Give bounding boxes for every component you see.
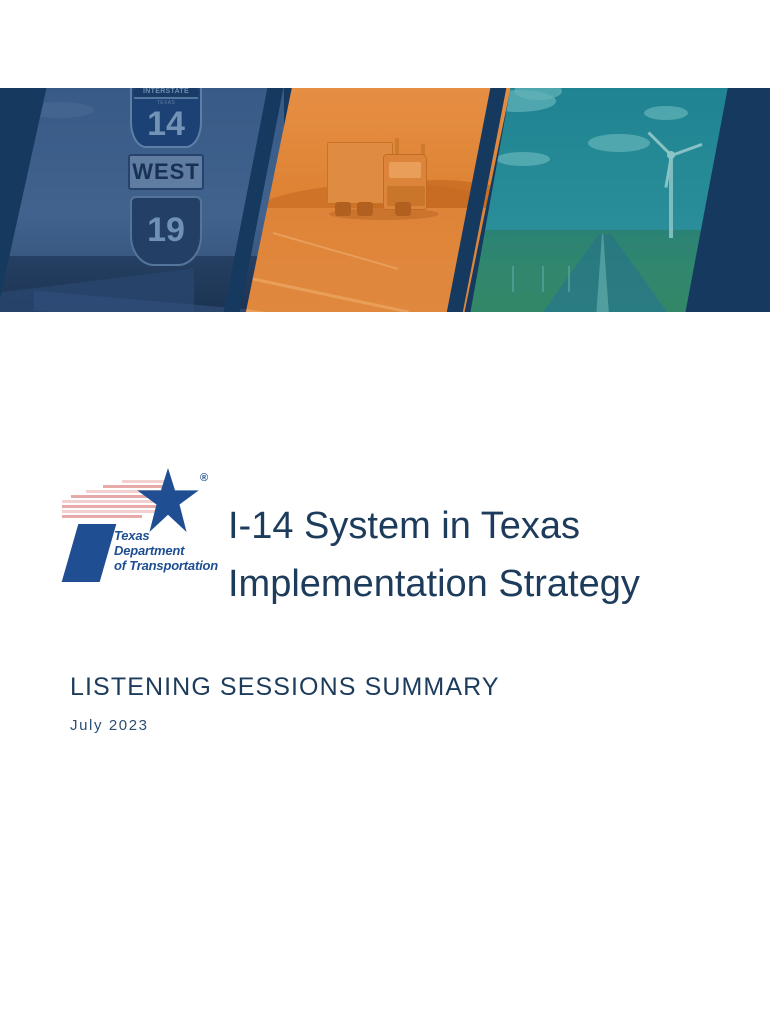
page-title-line2: Implementation Strategy [228, 555, 746, 613]
page-title: I-14 System in Texas Implementation Stra… [216, 491, 746, 613]
logo-wordmark-line3: of Transportation [114, 558, 218, 573]
logo-wordmark-line1: Texas [114, 528, 218, 543]
document-subtitle: LISTENING SESSIONS SUMMARY [70, 672, 710, 702]
logo-wordmark: Texas Department of Transportation [114, 528, 218, 573]
txdot-logo: ® Texas Department of Transportation [56, 466, 216, 588]
cover-banner: INTERSTATE TEXAS 14 WEST 19 [0, 88, 770, 312]
document-date: July 2023 [70, 716, 710, 736]
logo-wordmark-line2: Department [114, 543, 218, 558]
title-block: ® Texas Department of Transportation I-1… [56, 466, 746, 639]
page-title-line1: I-14 System in Texas [228, 497, 746, 555]
subtitle-block: LISTENING SESSIONS SUMMARY July 2023 [70, 672, 710, 736]
banner-panel-rural-highway [468, 88, 730, 312]
registered-trademark-icon: ® [200, 472, 208, 484]
teal-color-overlay [468, 88, 730, 312]
logo-slash-shape [62, 524, 117, 582]
